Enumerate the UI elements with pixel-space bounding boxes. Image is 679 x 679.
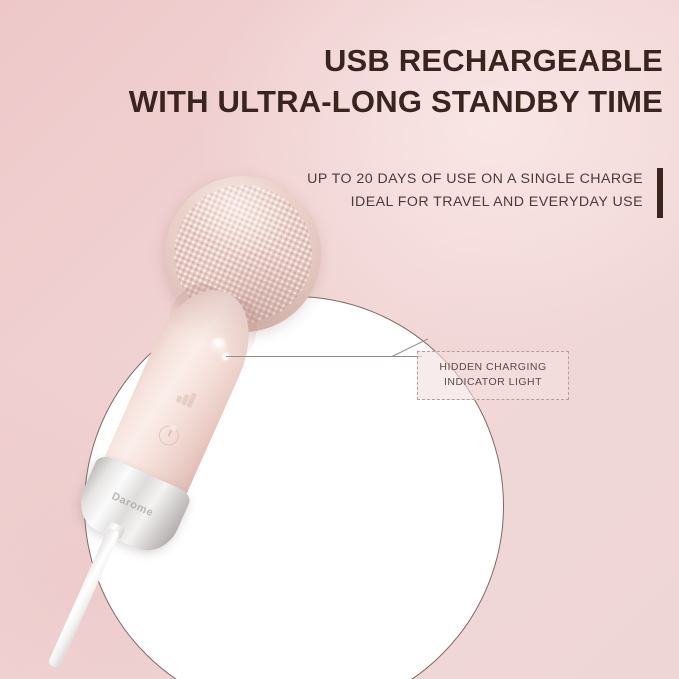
- headline-line-1: USB RECHARGEABLE: [0, 40, 663, 81]
- callout-hidden-charging-indicator: HIDDEN CHARGING INDICATOR LIGHT: [417, 351, 569, 400]
- subtitle: UP TO 20 DAYS OF USE ON A SINGLE CHARGE …: [307, 168, 657, 218]
- callout-line-2: INDICATOR LIGHT: [424, 375, 562, 390]
- subtitle-block: UP TO 20 DAYS OF USE ON A SINGLE CHARGE …: [307, 168, 663, 218]
- headline-line-2: WITH ULTRA-LONG STANDBY TIME: [0, 81, 663, 122]
- subtitle-line-2: IDEAL FOR TRAVEL AND EVERYDAY USE: [307, 191, 643, 214]
- product-marketing-image: USB RECHARGEABLE WITH ULTRA-LONG STANDBY…: [0, 0, 679, 679]
- headline: USB RECHARGEABLE WITH ULTRA-LONG STANDBY…: [0, 40, 663, 122]
- brand-logo-text: Darome: [83, 479, 181, 531]
- accent-bar: [657, 168, 663, 218]
- subtitle-line-1: UP TO 20 DAYS OF USE ON A SINGLE CHARGE: [307, 168, 643, 191]
- power-button-icon: [156, 422, 182, 448]
- callout-line-1: HIDDEN CHARGING: [424, 360, 562, 375]
- mode-level-icon: [175, 387, 196, 408]
